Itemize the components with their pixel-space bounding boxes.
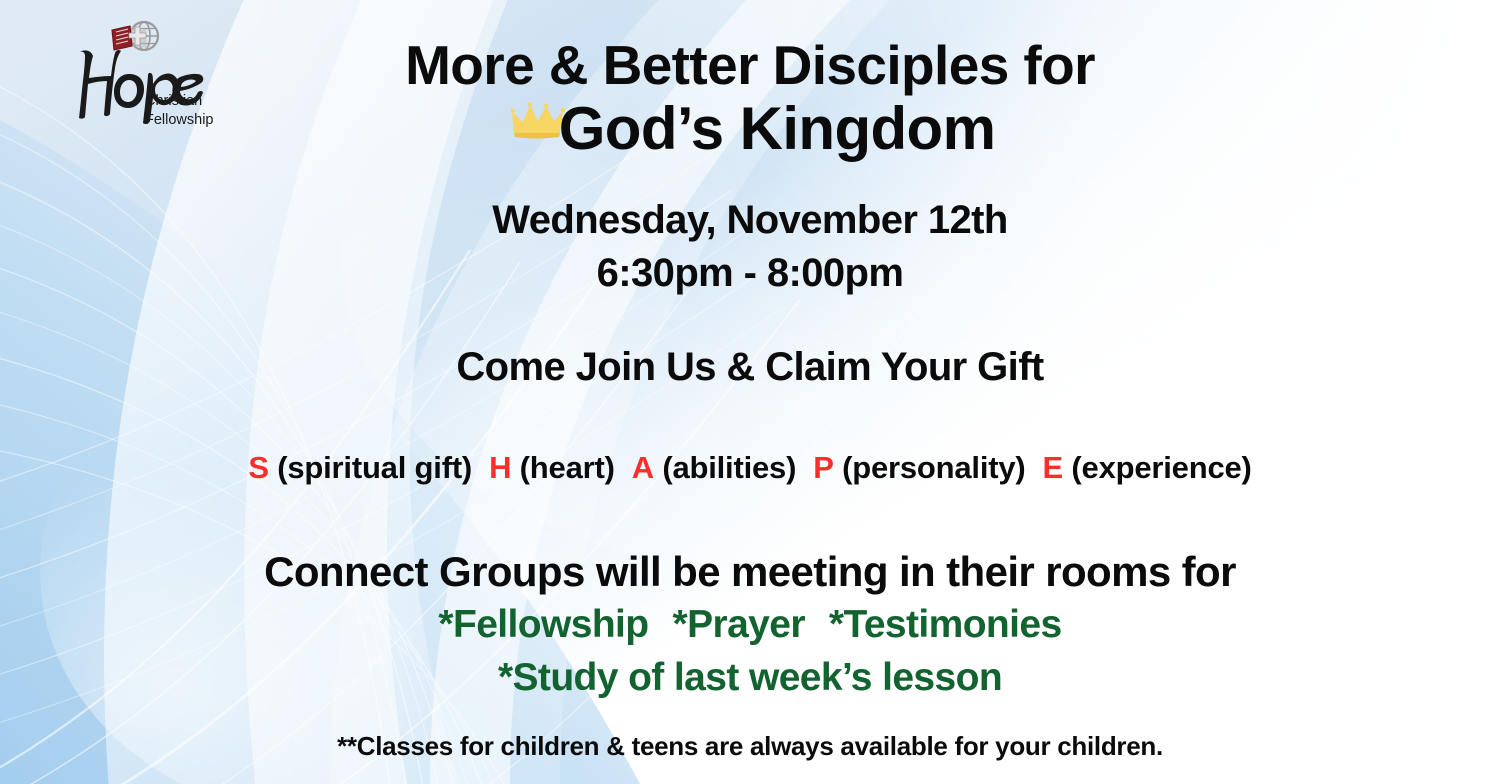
shape-item-a: A (abilities) [632, 452, 796, 483]
logo-line2: Fellowship [145, 112, 214, 128]
activity-item: *Fellowship [438, 605, 648, 644]
shape-word: (personality) [834, 450, 1026, 485]
shape-word: (heart) [511, 450, 614, 485]
logo-line1: Christian [145, 93, 202, 109]
shape-acronym-row: S (spiritual gift)H (heart)A (abilities)… [0, 452, 1500, 483]
children-classes-footnote: **Classes for children & teens are alway… [0, 733, 1500, 759]
shape-letter: H [489, 450, 511, 485]
crown-icon [511, 100, 565, 140]
shape-item-p: P (personality) [813, 452, 1025, 483]
shape-letter: A [632, 450, 654, 485]
shape-word: (experience) [1063, 450, 1252, 485]
shape-letter: S [248, 450, 268, 485]
shape-item-h: H (heart) [489, 452, 615, 483]
event-date: Wednesday, November 12th [0, 200, 1500, 240]
call-to-action: Come Join Us & Claim Your Gift [0, 347, 1500, 387]
event-time: 6:30pm - 8:00pm [0, 253, 1500, 293]
bible-cross-icon [112, 26, 147, 50]
connect-groups-heading: Connect Groups will be meeting in their … [0, 551, 1500, 593]
activity-item: *Prayer [673, 605, 805, 644]
connect-groups-activities-row-1: *Fellowship*Prayer*Testimonies [0, 605, 1500, 644]
shape-word: (spiritual gift) [269, 450, 472, 485]
hope-christian-fellowship-logo: Christian Fellowship [72, 18, 232, 138]
title-line-2-text: God’s Kingdom [559, 95, 996, 162]
shape-letter: P [813, 450, 833, 485]
shape-letter: E [1043, 450, 1063, 485]
flyer-canvas: Christian Fellowship More & Better Disci… [0, 0, 1500, 784]
activity-item: *Testimonies [829, 605, 1062, 644]
shape-item-s: S (spiritual gift) [248, 452, 472, 483]
connect-groups-activities-row-2: *Study of last week’s lesson [0, 658, 1500, 697]
shape-word: (abilities) [654, 450, 796, 485]
shape-item-e: E (experience) [1043, 452, 1252, 483]
